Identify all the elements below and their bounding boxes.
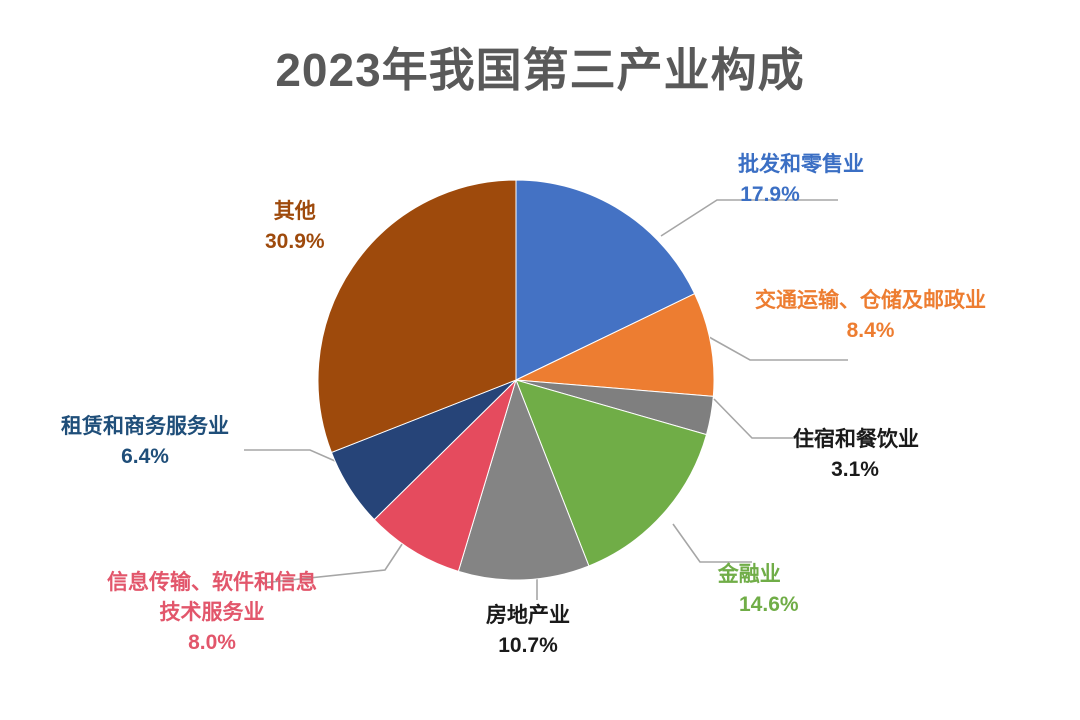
data-label-wholesale-name: 批发和零售业 — [738, 150, 864, 180]
data-label-finance: 金融业 14.6% — [700, 560, 799, 620]
pie-slices — [318, 180, 714, 580]
data-label-other-value: 30.9% — [265, 227, 325, 257]
data-label-wholesale-value: 17.9% — [676, 180, 864, 210]
data-label-realestate-name: 房地产业 — [486, 601, 570, 631]
data-label-other: 其他 30.9% — [265, 197, 325, 257]
data-label-it-services-name-line1: 信息传输、软件和信息 — [107, 568, 317, 598]
data-label-leasing-name: 租赁和商务服务业 — [61, 412, 229, 442]
data-label-transport: 交通运输、仓储及邮政业 8.4% — [755, 286, 986, 346]
data-label-it-services: 信息传输、软件和信息 技术服务业 8.0% — [107, 568, 317, 657]
data-label-leasing-value: 6.4% — [61, 442, 229, 472]
data-label-leasing: 租赁和商务服务业 6.4% — [61, 412, 229, 472]
data-label-it-services-name-line2: 技术服务业 — [107, 598, 317, 628]
data-label-transport-name: 交通运输、仓储及邮政业 — [755, 286, 986, 316]
leader-line-finance — [673, 524, 752, 562]
pie-chart-figure: 2023年我国第三产业构成 批发和零售业 17.9% 交通运输、仓储及邮政业 8… — [0, 0, 1080, 720]
data-label-accommodation: 住宿和餐饮业 3.1% — [793, 425, 919, 485]
data-label-transport-value: 8.4% — [755, 316, 986, 346]
data-label-realestate-value: 10.7% — [486, 631, 570, 661]
data-label-finance-value: 14.6% — [739, 590, 799, 620]
data-label-accommodation-value: 3.1% — [791, 455, 919, 485]
data-label-it-services-value: 8.0% — [107, 628, 317, 658]
data-label-realestate: 房地产业 10.7% — [486, 601, 570, 661]
data-label-other-name: 其他 — [265, 197, 325, 227]
data-label-wholesale: 批发和零售业 17.9% — [738, 150, 864, 210]
data-label-accommodation-name: 住宿和餐饮业 — [793, 425, 919, 455]
data-label-finance-name: 金融业 — [700, 560, 799, 590]
